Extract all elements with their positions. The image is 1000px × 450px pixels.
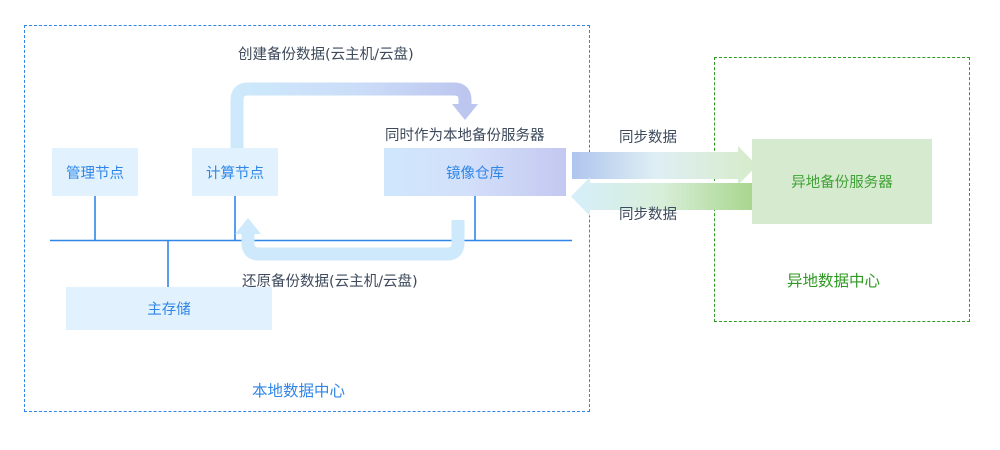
connector-layer bbox=[0, 0, 1000, 450]
remote-data-center-caption: 异地数据中心 bbox=[787, 269, 880, 291]
label-sync-data-outbound: 同步数据 bbox=[619, 126, 677, 147]
node-compute-label: 计算节点 bbox=[206, 162, 264, 183]
label-sync-data-inbound: 同步数据 bbox=[619, 203, 677, 224]
label-restore-backup: 还原备份数据(云主机/云盘) bbox=[242, 270, 418, 291]
diagram-canvas: 管理节点 计算节点 镜像仓库 主存储 异地备份服务器 创建备份数据(云主机/云盘… bbox=[0, 0, 1000, 450]
node-compute-node[interactable]: 计算节点 bbox=[192, 148, 278, 196]
sync-out-arrow bbox=[572, 146, 757, 185]
local-data-center-caption: 本地数据中心 bbox=[252, 379, 345, 401]
node-storage-label: 主存储 bbox=[147, 298, 191, 319]
label-create-backup: 创建备份数据(云主机/云盘) bbox=[238, 43, 414, 64]
node-remote-backup-server[interactable]: 异地备份服务器 bbox=[752, 139, 932, 224]
node-manage-node[interactable]: 管理节点 bbox=[52, 148, 138, 196]
node-manage-label: 管理节点 bbox=[66, 162, 124, 183]
node-primary-storage[interactable]: 主存储 bbox=[66, 287, 272, 330]
node-registry-label: 镜像仓库 bbox=[446, 162, 504, 183]
restore-backup-arrow bbox=[235, 218, 458, 254]
node-remote-label: 异地备份服务器 bbox=[791, 171, 893, 192]
label-also-local-backup-server: 同时作为本地备份服务器 bbox=[385, 124, 545, 145]
node-image-registry[interactable]: 镜像仓库 bbox=[384, 148, 566, 196]
